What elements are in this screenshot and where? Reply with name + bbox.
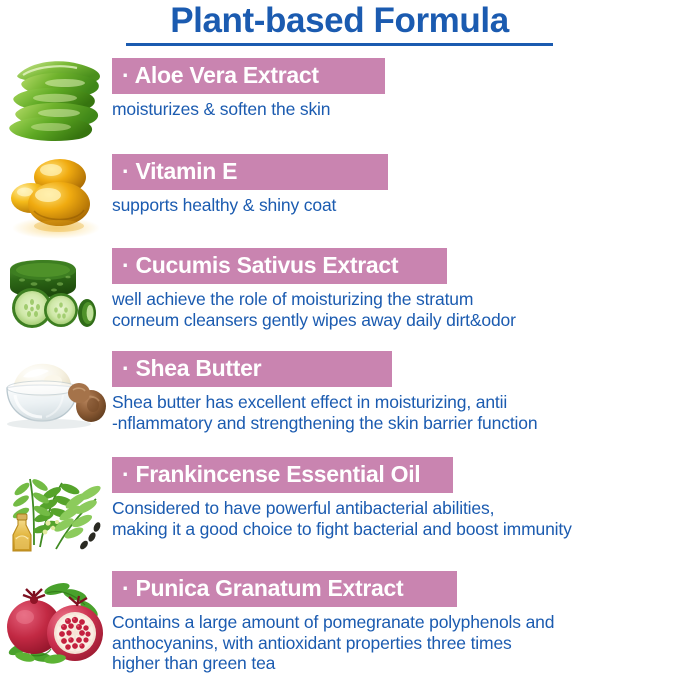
vitamin-e-copy: · Vitamin E supports healthy & shiny coa… — [112, 150, 679, 216]
shea-butter-copy: · Shea Butter Shea butter has excellent … — [112, 347, 679, 433]
ingredient-row-vitamin-e: · Vitamin E supports healthy & shiny coa… — [0, 150, 679, 244]
badge-punica-granatum-extract: · Punica Granatum Extract — [112, 571, 457, 607]
ingredient-row-aloe-vera: · Aloe Vera Extract moisturizes & soften… — [0, 54, 679, 150]
ingredient-list: · Aloe Vera Extract moisturizes & soften… — [0, 54, 679, 687]
badge-frankincense-essential-oil: · Frankincense Essential Oil — [112, 457, 453, 493]
ingredient-row-shea-butter: · Shea Butter Shea butter has excellent … — [0, 347, 679, 453]
title-block: Plant-based Formula — [0, 0, 679, 46]
cucumber-thumbnail — [0, 244, 112, 336]
title-underline-rule — [126, 43, 553, 46]
shea-butter-bowl-icon — [1, 351, 111, 437]
description-frankincense: Considered to have powerful antibacteria… — [112, 498, 679, 539]
badge-vitamin-e: · Vitamin E — [112, 154, 388, 190]
aloe-vera-slices-icon — [3, 56, 109, 148]
cucumis-copy: · Cucumis Sativus Extract well achieve t… — [112, 244, 679, 330]
ingredient-row-frankincense: · Frankincense Essential Oil Considered … — [0, 453, 679, 567]
description-punica-granatum: Contains a large amount of pomegranate p… — [112, 612, 679, 674]
aloe-vera-copy: · Aloe Vera Extract moisturizes & soften… — [112, 54, 679, 120]
description-vitamin-e: supports healthy & shiny coat — [112, 195, 679, 216]
badge-aloe-vera-extract: · Aloe Vera Extract — [112, 58, 385, 94]
description-aloe-vera: moisturizes & soften the skin — [112, 99, 679, 120]
essential-oil-bottle — [13, 514, 31, 551]
aloe-vera-thumbnail — [0, 54, 112, 148]
cucumber-slices-icon — [2, 250, 110, 336]
shea-butter-thumbnail — [0, 347, 112, 437]
ingredient-row-punica-granatum: · Punica Granatum Extract Contains a lar… — [0, 567, 679, 687]
page-title: Plant-based Formula — [0, 2, 679, 40]
ingredient-row-cucumis-sativus: · Cucumis Sativus Extract well achieve t… — [0, 244, 679, 347]
vitamin-e-softgel-capsules-icon — [4, 152, 108, 242]
pomegranate-fruit-icon — [1, 575, 111, 667]
frankincense-thumbnail — [0, 453, 112, 557]
punica-copy: · Punica Granatum Extract Contains a lar… — [112, 567, 679, 674]
badge-shea-butter: · Shea Butter — [112, 351, 392, 387]
frankincense-plant-oil-icon — [4, 465, 108, 557]
badge-cucumis-sativus-extract: · Cucumis Sativus Extract — [112, 248, 447, 284]
vitamin-e-thumbnail — [0, 150, 112, 242]
frankincense-copy: · Frankincense Essential Oil Considered … — [112, 453, 679, 539]
description-shea-butter: Shea butter has excellent effect in mois… — [112, 392, 679, 433]
pomegranate-thumbnail — [0, 567, 112, 667]
description-cucumis-sativus: well achieve the role of moisturizing th… — [112, 289, 679, 330]
